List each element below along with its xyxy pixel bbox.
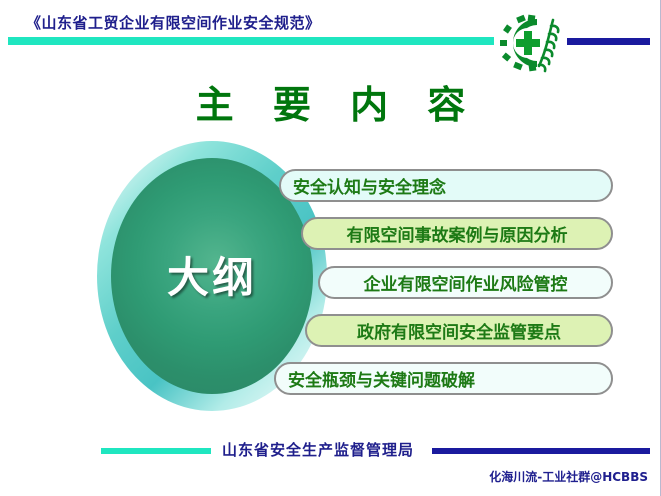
agenda-item-2[interactable]: 有限空间事故案例与原因分析 (301, 217, 613, 250)
agenda-item-5-label: 安全瓶颈与关键问题破解 (288, 366, 475, 391)
watermark-text: 化海川流-工业社群@HCBBS (489, 468, 648, 485)
slide-header-title: 《山东省工贸企业有限空间作业安全规范》 (26, 12, 321, 33)
agenda-item-2-label: 有限空间事故案例与原因分析 (347, 221, 568, 246)
footer-organization: 山东省安全生产监督管理局 (222, 439, 414, 460)
header-divider-blue (567, 38, 650, 45)
header-divider-cyan (8, 37, 494, 45)
presentation-slide: 《山东省工贸企业有限空间作业安全规范》 (0, 0, 661, 496)
footer-divider-cyan (101, 448, 211, 454)
agenda-item-4-label: 政府有限空间安全监管要点 (357, 318, 561, 343)
circle-label: 大纲 (97, 244, 327, 305)
agenda-item-1[interactable]: 安全认知与安全理念 (279, 169, 613, 202)
agenda-item-3-label: 企业有限空间作业风险管控 (364, 270, 568, 295)
agenda-item-1-label: 安全认知与安全理念 (293, 173, 446, 198)
page-title: 主 要 内 容 (0, 74, 661, 129)
footer-divider-blue (432, 448, 650, 454)
agenda-item-5[interactable]: 安全瓶颈与关键问题破解 (274, 362, 613, 395)
agenda-item-3[interactable]: 企业有限空间作业风险管控 (318, 266, 613, 299)
safety-production-emblem-icon (499, 13, 565, 73)
agenda-item-4[interactable]: 政府有限空间安全监管要点 (305, 314, 613, 347)
